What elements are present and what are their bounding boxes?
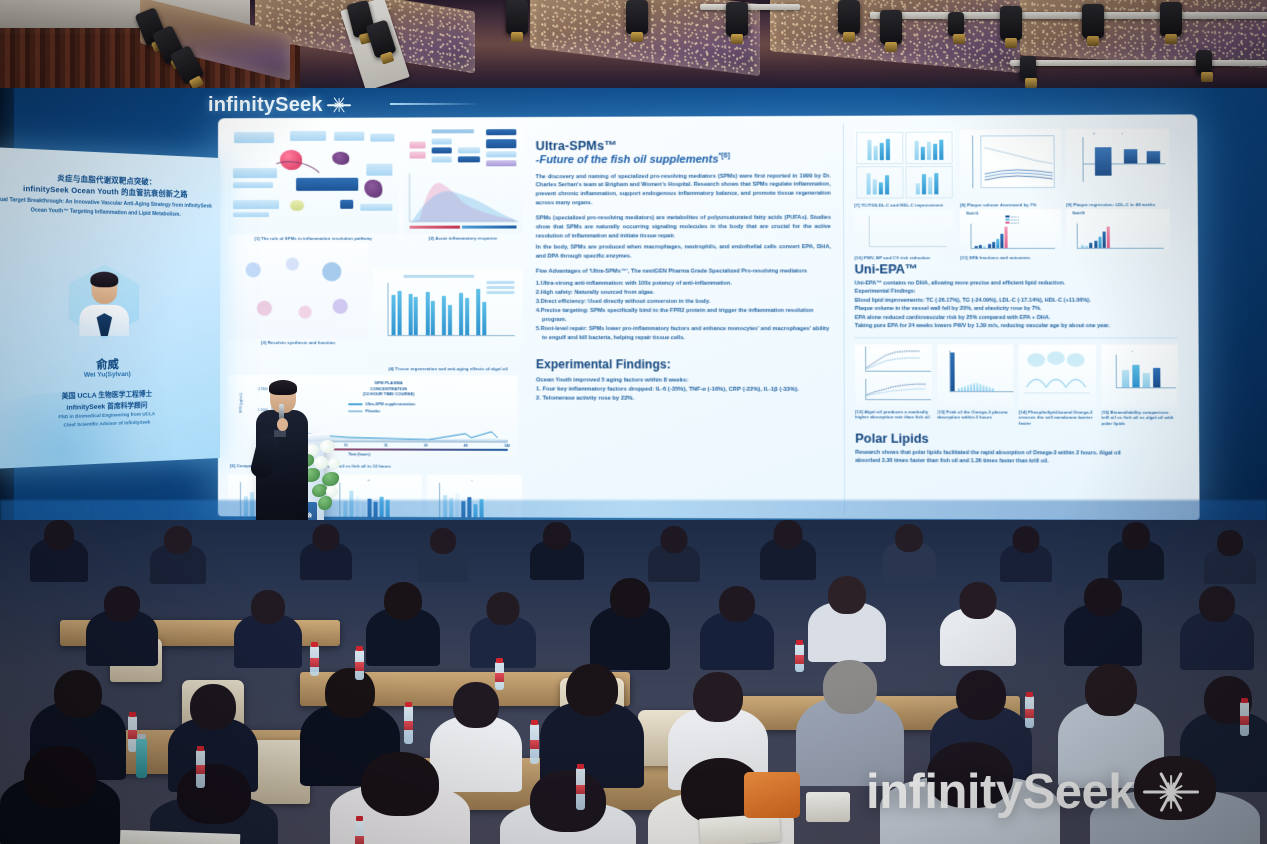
figure-panel-7 <box>854 130 955 201</box>
figure-caption: [14] Phospholipid-bound Omega-3 crosses … <box>1019 409 1096 426</box>
stage-light <box>506 0 528 34</box>
figure-panel-9: ** * <box>1066 129 1170 200</box>
stage-light <box>948 12 964 36</box>
uni-epa-line-4: Plaque volume in the vessel wall fell by… <box>855 305 1178 314</box>
speaker-intro-panel: 炎症与血脂代谢双靶点突破： infinitySeek Ocean Youth 的… <box>0 147 220 469</box>
figure-panel-4 <box>373 268 522 365</box>
stage-light <box>1196 50 1212 74</box>
audience-area: adidas <box>0 520 1267 844</box>
advantages-header: Five Advantages of 'Ultra-SPMs™', The ne… <box>536 268 831 277</box>
slide-title: Ultra-SPMs™ <box>536 138 831 153</box>
slide-main-text-column: Ultra-SPMs™ -Future of the fish oil supp… <box>527 124 844 515</box>
figure-panel-10 <box>854 209 955 254</box>
figure-caption: [10] PWV, BP and CV risk reduction <box>855 255 956 260</box>
audience-member <box>330 752 470 844</box>
advantages-list: 1.Ultra-strong anti-inflammation: with 1… <box>536 279 831 342</box>
pk-xtick: 144 <box>504 444 510 448</box>
pk-xtick: 20 <box>424 444 428 448</box>
conference-photo: infinitySeek <box>0 0 1267 844</box>
water-bottle <box>1025 696 1034 728</box>
figure-caption: [3] Resolvin synthesis and function <box>228 340 368 345</box>
figure-panel-13 <box>936 345 1013 408</box>
figure-panel-12 <box>855 345 932 408</box>
pk-xtick: 15 <box>384 444 388 448</box>
water-bottle <box>310 646 319 676</box>
presenter-badge <box>274 430 286 437</box>
water-bottle <box>196 750 205 788</box>
water-bottle <box>404 706 413 744</box>
presenter-hand <box>277 418 288 431</box>
audience-member <box>648 526 700 582</box>
water-bottle <box>576 768 585 810</box>
audience-member <box>1000 526 1052 582</box>
audience-member <box>940 582 1016 666</box>
stage-light <box>726 2 748 36</box>
audience-member <box>882 524 936 582</box>
figure-caption: [13] Peak of the Omega-3 plasma absorpti… <box>937 409 1014 420</box>
audience-member <box>86 586 158 666</box>
stage-light <box>1020 56 1036 80</box>
findings-item-2: 2. Telomerase activity rose by 22%. <box>536 395 831 405</box>
findings-intro: Ocean Youth improved 5 aging factors wit… <box>536 376 831 386</box>
figure-panel-3 <box>228 242 368 338</box>
uni-epa-line-5: EPA alone reduced cardiovascular risk by… <box>855 313 1178 322</box>
figure-panel-2 <box>403 125 522 234</box>
audience-member <box>880 742 1060 844</box>
lighting-truss <box>870 12 1267 19</box>
figure-caption: [1] The role of SPMs in inflammation res… <box>228 235 398 240</box>
figure-panel-14 <box>1018 345 1095 408</box>
speaker-portrait <box>69 264 139 339</box>
water-bottle <box>495 662 504 690</box>
figure-caption: [9] Plaque regression: LDL-C in 48 weeks <box>1066 201 1170 206</box>
stage-light <box>1000 6 1022 40</box>
ceiling <box>0 0 1267 92</box>
logo-text: infinitySeek <box>208 94 323 117</box>
water-bottle <box>1240 702 1249 736</box>
audience-member <box>760 520 816 580</box>
slide-right-column: [7] TC/TG/LDL-C and HDL-C improvement <box>843 123 1185 516</box>
citation-marker: *[6] <box>719 153 731 160</box>
presentation-slide: [1] The role of SPMs in inflammation res… <box>218 114 1200 520</box>
polar-lipids-line-2: absorbed 3.36 times faster than fish oil… <box>855 457 1178 466</box>
stage-light <box>880 10 902 44</box>
infinityseek-logo-top: infinitySeek <box>208 92 352 118</box>
water-bottle <box>795 644 804 672</box>
figure-caption: [8] Plaque volume decreased by 7% <box>960 202 1061 207</box>
figure-caption: [11] EPA fractions and outcomes <box>960 255 1061 260</box>
coffee-cup <box>806 792 850 822</box>
lighting-truss <box>700 4 800 10</box>
figure-caption: [7] TC/TG/LDL-C and HDL-C improvement <box>854 202 955 207</box>
advantage-item: 2.High safety: Naturally sourced from al… <box>536 289 831 298</box>
slide-paragraph-1: The discovery and naming of specialized … <box>536 172 831 208</box>
audience-member <box>418 528 468 582</box>
audience-member <box>1204 530 1256 584</box>
figure-caption: [2] Acute inflammatory response <box>404 235 523 240</box>
audience-member <box>300 524 352 580</box>
slide-subtitle: -Future of the fish oil supplements*[6] <box>536 152 831 166</box>
polar-lipids-title: Polar Lipids <box>855 432 1178 447</box>
uni-epa-line-3: Blood lipid improvements: TC (-26.17%), … <box>855 296 1178 305</box>
figure-panel-15: * <box>1101 345 1179 408</box>
presenter <box>252 382 312 542</box>
audience-member <box>590 578 670 670</box>
water-bottle <box>355 650 364 680</box>
uni-epa-line-6: Taking pure EPA for 24 weeks lowers PWV … <box>855 322 1178 331</box>
audience-member <box>530 522 584 580</box>
presenter-hair <box>269 380 297 395</box>
figure-panel-11b: Model B <box>1066 209 1170 254</box>
lighting-truss <box>1010 60 1267 66</box>
uni-epa-title: Uni-EPA™ <box>855 262 1178 277</box>
uni-epa-line-1: Uni-EPA™ contains no DHA, allowing more … <box>855 279 1178 288</box>
figure-caption: [12] Algal oil produces a markedly highe… <box>855 409 932 420</box>
figure-caption: [4] Tissue regeneration and anti-aging e… <box>373 366 522 371</box>
figure-panel-8 <box>960 129 1061 200</box>
audience-member <box>150 526 206 584</box>
stage-light <box>1160 2 1182 36</box>
stage-light <box>838 0 860 34</box>
audience-member <box>700 586 774 670</box>
figure-panel-1 <box>228 126 398 234</box>
water-bottle <box>355 820 364 844</box>
audience-member <box>1108 522 1164 580</box>
audience-member <box>1090 756 1260 844</box>
logo-accent-bar <box>390 103 480 105</box>
experimental-findings-title: Experimental Findings: <box>536 357 831 371</box>
stage-light <box>626 0 648 34</box>
panel-title-block: 炎症与血脂代谢双靶点突破： infinitySeek Ocean Youth 的… <box>0 171 214 221</box>
water-bottle <box>530 724 539 764</box>
audience-member <box>470 592 536 668</box>
audience-member <box>1180 586 1254 670</box>
audience-member <box>30 520 88 582</box>
starburst-icon <box>326 92 352 118</box>
ceiling-glitter <box>1020 0 1267 69</box>
thermos-bottle <box>136 738 147 778</box>
figure-caption: [15] Bioavailability comparison: krill o… <box>1101 409 1178 426</box>
pk-xtick: 48 <box>464 444 468 448</box>
audience-member <box>1064 578 1142 666</box>
advantage-item: 4.Precise targeting: SPMs specifically b… <box>536 307 831 325</box>
uni-epa-line-2: Experimental Findings: <box>855 288 1178 297</box>
section-divider <box>855 338 1178 339</box>
findings-item-1: 1. Four key inflammatory factors dropped… <box>536 385 831 395</box>
audience-member <box>808 576 886 662</box>
advantage-item: 1.Ultra-strong anti-inflammation: with 1… <box>536 279 831 288</box>
pk-xlabel: Time (hours) <box>348 452 370 456</box>
advantage-item: 3.Direct efficiency: Used directly witho… <box>536 298 831 307</box>
audience-member <box>0 746 120 844</box>
stage-light <box>1082 4 1104 38</box>
audience-member <box>366 582 440 666</box>
audience-member <box>500 770 636 844</box>
figure-panel-11a: Model A group 1 group 2 group 3 <box>960 209 1061 254</box>
orange-bag <box>744 772 800 818</box>
advantage-item: 5.Root-level repair: SPMs lower pro-infl… <box>536 325 831 343</box>
slide-paragraph-3: In the body, SPMs are produced when macr… <box>536 244 831 262</box>
slide-paragraph-2: SPMs (specialized pro-resolving mediator… <box>536 214 831 241</box>
audience-member <box>234 590 302 668</box>
portrait-hair <box>90 272 118 288</box>
